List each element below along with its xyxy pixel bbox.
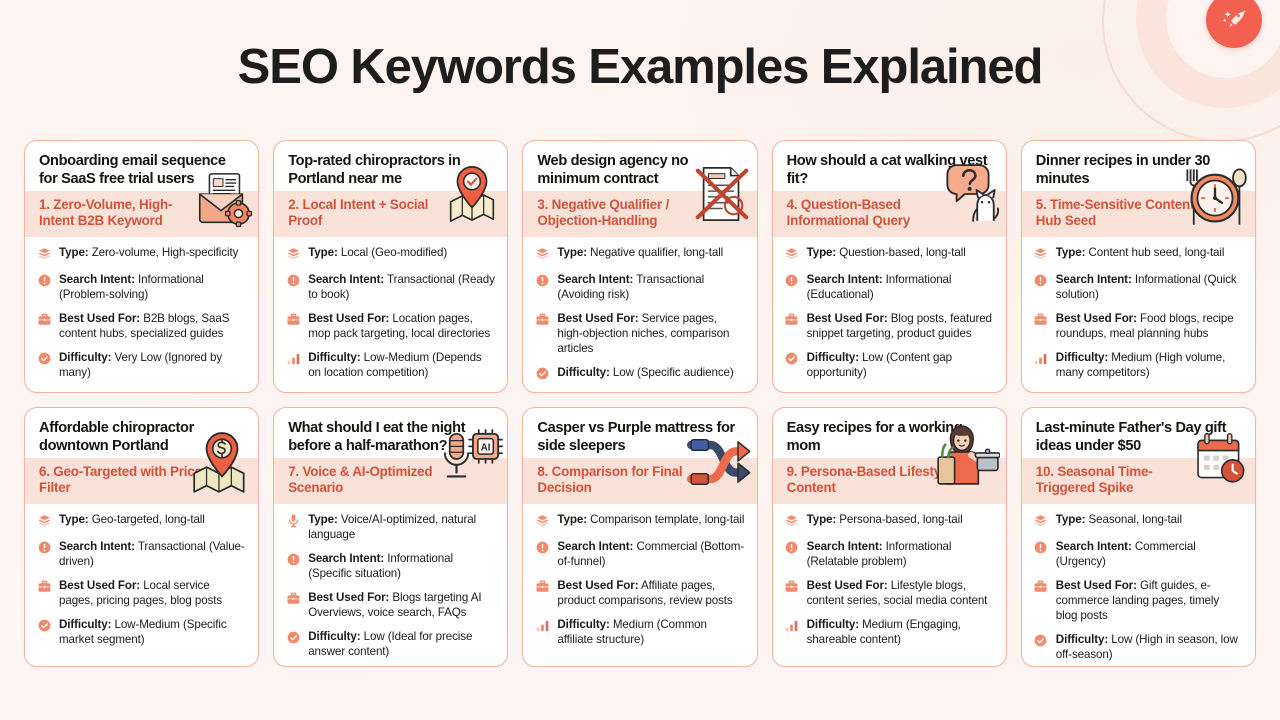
- detail-row-difficulty: Difficulty: Low (High in season, low off…: [1033, 632, 1243, 662]
- keyword-card[interactable]: Last-minute Father's Day gift ideas unde…: [1021, 407, 1256, 667]
- detail-text-difficulty: Difficulty: Medium (High volume, many co…: [1056, 350, 1243, 380]
- detail-text-difficulty: Difficulty: Low (Ideal for precise answe…: [308, 629, 495, 659]
- check-circle-icon: [534, 366, 550, 383]
- briefcase-icon: [1033, 579, 1049, 596]
- detail-label-type: Type:: [807, 513, 837, 526]
- keyword-type-label: 2. Local Intent + Social Proof: [288, 197, 456, 229]
- detail-text-search-intent: Search Intent: Commercial (Urgency): [1056, 539, 1243, 569]
- keyword-type-band: 1. Zero-Volume, High-Intent B2B Keyword: [25, 191, 258, 237]
- alert-circle-icon: [534, 273, 550, 290]
- keyword-title: Affordable chiropractor downtown Portlan…: [39, 420, 244, 456]
- detail-label-difficulty: Difficulty:: [557, 618, 609, 631]
- briefcase-icon: [285, 312, 301, 329]
- briefcase-icon: [784, 579, 800, 596]
- rocket-sparkle-icon: [1219, 5, 1249, 35]
- detail-label-type: Type:: [1056, 513, 1086, 526]
- detail-row-difficulty: Difficulty: Medium (Common affiliate str…: [534, 617, 744, 647]
- detail-label-difficulty: Difficulty:: [557, 366, 609, 379]
- detail-text-type: Type: Voice/AI-optimized, natural langua…: [308, 512, 495, 542]
- detail-label-difficulty: Difficulty:: [1056, 351, 1108, 364]
- keyword-type-label: 4. Question-Based Informational Query: [787, 197, 955, 229]
- detail-row-best-used-for: Best Used For: Gift guides, e-commerce l…: [1033, 578, 1243, 623]
- card-details: Type: Comparison template, long-tail Sea…: [523, 504, 756, 666]
- detail-row-best-used-for: Best Used For: Local service pages, pric…: [36, 578, 246, 608]
- detail-label-search-intent: Search Intent:: [557, 273, 633, 286]
- alert-circle-icon: [36, 540, 52, 557]
- check-circle-icon: [784, 351, 800, 368]
- detail-row-search-intent: Search Intent: Informational (Problem-so…: [36, 272, 246, 302]
- detail-label-best-used-for: Best Used For:: [1056, 312, 1137, 325]
- keyword-title: Last-minute Father's Day gift ideas unde…: [1036, 420, 1241, 456]
- detail-text-best-used-for: Best Used For: Local service pages, pric…: [59, 578, 246, 608]
- keyword-title: Onboarding email sequence for SaaS free …: [39, 153, 244, 189]
- detail-row-best-used-for: Best Used For: Blogs targeting AI Overvi…: [285, 590, 495, 620]
- detail-text-search-intent: Search Intent: Transactional (Avoiding r…: [557, 272, 744, 302]
- alert-circle-icon: [1033, 273, 1049, 290]
- card-header: Easy recipes for a working mom: [773, 408, 1006, 458]
- detail-label-search-intent: Search Intent:: [59, 540, 135, 553]
- detail-label-best-used-for: Best Used For:: [557, 312, 638, 325]
- detail-row-search-intent: Search Intent: Commercial (Bottom-of-fun…: [534, 539, 744, 569]
- keyword-type-band: 7. Voice & AI-Optimized Scenario: [274, 458, 507, 504]
- card-header: Casper vs Purple mattress for side sleep…: [523, 408, 756, 458]
- detail-label-type: Type:: [557, 513, 587, 526]
- detail-row-type: Type: Persona-based, long-tail: [784, 512, 994, 530]
- card-header: Last-minute Father's Day gift ideas unde…: [1022, 408, 1255, 458]
- detail-label-type: Type:: [1056, 246, 1086, 259]
- card-header: Dinner recipes in under 30 minutes: [1022, 141, 1255, 191]
- bar-chart-icon: [534, 618, 550, 635]
- detail-text-search-intent: Search Intent: Informational (Quick solu…: [1056, 272, 1243, 302]
- detail-row-type: Type: Comparison template, long-tail: [534, 512, 744, 530]
- card-details: Type: Content hub seed, long-tail Search…: [1022, 237, 1255, 392]
- detail-row-type: Type: Voice/AI-optimized, natural langua…: [285, 512, 495, 542]
- detail-value-type: Seasonal, long-tail: [1088, 513, 1182, 526]
- detail-label-type: Type:: [807, 246, 837, 259]
- detail-row-best-used-for: Best Used For: Service pages, high-objec…: [534, 311, 744, 356]
- detail-text-search-intent: Search Intent: Commercial (Bottom-of-fun…: [557, 539, 744, 569]
- detail-text-best-used-for: Best Used For: Blogs targeting AI Overvi…: [308, 590, 495, 620]
- keyword-title: Dinner recipes in under 30 minutes: [1036, 153, 1241, 189]
- detail-text-best-used-for: Best Used For: Affiliate pages, product …: [557, 578, 744, 608]
- detail-row-search-intent: Search Intent: Transactional (Value-driv…: [36, 539, 246, 569]
- detail-row-difficulty: Difficulty: Low (Specific audience): [534, 365, 744, 383]
- card-header: How should a cat walking vest fit?: [773, 141, 1006, 191]
- detail-label-best-used-for: Best Used For:: [807, 579, 888, 592]
- card-header: Web design agency no minimum contract: [523, 141, 756, 191]
- keyword-type-label: 1. Zero-Volume, High-Intent B2B Keyword: [39, 197, 207, 229]
- detail-text-type: Type: Content hub seed, long-tail: [1056, 245, 1225, 260]
- detail-row-best-used-for: Best Used For: Location pages, mop pack …: [285, 311, 495, 341]
- alert-circle-icon: [285, 273, 301, 290]
- detail-text-search-intent: Search Intent: Transactional (Ready to b…: [308, 272, 495, 302]
- keyword-type-band: 3. Negative Qualifier / Objection-Handli…: [523, 191, 756, 237]
- briefcase-icon: [534, 579, 550, 596]
- detail-value-type: Geo-targeted, long-tall: [92, 513, 205, 526]
- detail-label-type: Type:: [59, 513, 89, 526]
- detail-label-best-used-for: Best Used For:: [59, 312, 140, 325]
- detail-text-search-intent: Search Intent: Informational (Educationa…: [807, 272, 994, 302]
- check-circle-icon: [36, 618, 52, 635]
- keyword-card[interactable]: Casper vs Purple mattress for side sleep…: [522, 407, 757, 667]
- detail-row-best-used-for: Best Used For: Lifestyle blogs, content …: [784, 578, 994, 608]
- briefcase-icon: [534, 312, 550, 329]
- detail-row-search-intent: Search Intent: Transactional (Avoiding r…: [534, 272, 744, 302]
- keyword-type-label: 9. Persona-Based Lifestyie Content: [787, 464, 955, 496]
- card-header: Affordable chiropractor downtown Portlan…: [25, 408, 258, 458]
- briefcase-icon: [784, 312, 800, 329]
- card-details: Type: Zero-volume, High-specificity Sear…: [25, 237, 258, 392]
- card-details: Type: Persona-based, long-tail Search In…: [773, 504, 1006, 666]
- detail-label-search-intent: Search Intent:: [308, 273, 384, 286]
- keyword-type-label: 3. Negative Qualifier / Objection-Handli…: [537, 197, 705, 229]
- detail-row-type: Type: Seasonal, long-tail: [1033, 512, 1243, 530]
- detail-row-search-intent: Search Intent: Informational (Relatable …: [784, 539, 994, 569]
- detail-label-search-intent: Search Intent:: [807, 540, 883, 553]
- layers-icon: [36, 513, 52, 530]
- detail-row-difficulty: Difficulty: Very Low (Ignored by many): [36, 350, 246, 380]
- card-header: What should I eat the night before a hal…: [274, 408, 507, 458]
- detail-text-type: Type: Negative qualifier, long-tall: [557, 245, 723, 260]
- keyword-type-band: 10. Seasonal Time-Triggered Spike: [1022, 458, 1255, 504]
- keyword-title: How should a cat walking vest fit?: [787, 153, 992, 189]
- card-header: Top-rated chiropractors in Portland near…: [274, 141, 507, 191]
- detail-row-difficulty: Difficulty: Low (Content gap opportunity…: [784, 350, 994, 380]
- detail-text-best-used-for: Best Used For: Gift guides, e-commerce l…: [1056, 578, 1243, 623]
- briefcase-icon: [36, 579, 52, 596]
- layers-icon: [285, 246, 301, 263]
- keyword-card[interactable]: Easy recipes for a working mom 9. Person…: [772, 407, 1007, 667]
- detail-text-type: Type: Geo-targeted, long-tall: [59, 512, 205, 527]
- detail-text-best-used-for: Best Used For: Food blogs, recipe roundu…: [1056, 311, 1243, 341]
- detail-text-type: Type: Local (Geo-modified): [308, 245, 447, 260]
- bar-chart-icon: [784, 618, 800, 635]
- card-details: Type: Voice/AI-optimized, natural langua…: [274, 504, 507, 667]
- keyword-type-label: 10. Seasonal Time-Triggered Spike: [1036, 464, 1204, 496]
- detail-label-search-intent: Search Intent:: [59, 273, 135, 286]
- check-circle-icon: [285, 630, 301, 647]
- detail-text-search-intent: Search Intent: Informational (Problem-so…: [59, 272, 246, 302]
- detail-label-difficulty: Difficulty:: [59, 351, 111, 364]
- page-title: SEO Keywords Examples Explained: [0, 40, 1280, 95]
- alert-circle-icon: [285, 552, 301, 569]
- keyword-type-band: 6. Geo-Targeted with Price Filter: [25, 458, 258, 504]
- detail-text-search-intent: Search Intent: Transactional (Value-driv…: [59, 539, 246, 569]
- detail-label-best-used-for: Best Used For:: [557, 579, 638, 592]
- detail-label-difficulty: Difficulty:: [807, 351, 859, 364]
- keyword-type-label: 6. Geo-Targeted with Price Filter: [39, 464, 207, 496]
- detail-row-search-intent: Search Intent: Transactional (Ready to b…: [285, 272, 495, 302]
- detail-text-difficulty: Difficulty: Low-Medium (Depends on locat…: [308, 350, 495, 380]
- card-header: Onboarding email sequence for SaaS free …: [25, 141, 258, 191]
- detail-text-difficulty: Difficulty: Medium (Common affiliate str…: [557, 617, 744, 647]
- detail-row-type: Type: Zero-volume, High-specificity: [36, 245, 246, 263]
- detail-text-difficulty: Difficulty: Medium (Engaging, shareable …: [807, 617, 994, 647]
- briefcase-icon: [36, 312, 52, 329]
- detail-label-difficulty: Difficulty:: [807, 618, 859, 631]
- bar-chart-icon: [1033, 351, 1049, 368]
- detail-value-type: Comparison template, long-tail: [590, 513, 744, 526]
- detail-row-difficulty: Difficulty: Low-Medium (Specific market …: [36, 617, 246, 647]
- detail-label-difficulty: Difficulty:: [59, 618, 111, 631]
- detail-row-difficulty: Difficulty: Medium (Engaging, shareable …: [784, 617, 994, 647]
- keyword-card[interactable]: AI What should I eat the night before a …: [273, 407, 508, 667]
- detail-row-type: Type: Local (Geo-modified): [285, 245, 495, 263]
- keyword-card[interactable]: Onboarding email sequence for SaaS free …: [24, 140, 259, 393]
- layers-icon: [1033, 246, 1049, 263]
- detail-text-type: Type: Comparison template, long-tail: [557, 512, 744, 527]
- detail-text-difficulty: Difficulty: Low (Specific audience): [557, 365, 733, 380]
- detail-label-best-used-for: Best Used For:: [308, 312, 389, 325]
- keyword-card[interactable]: How should a cat walking vest fit? 4. Qu…: [772, 140, 1007, 393]
- card-details: Type: Seasonal, long-tail Search Intent:…: [1022, 504, 1255, 667]
- detail-text-best-used-for: Best Used For: B2B blogs, SaaS content h…: [59, 311, 246, 341]
- detail-text-search-intent: Search Intent: Informational (Relatable …: [807, 539, 994, 569]
- check-circle-icon: [1033, 633, 1049, 650]
- keyword-title: Casper vs Purple mattress for side sleep…: [537, 420, 742, 456]
- alert-circle-icon: [534, 540, 550, 557]
- detail-row-search-intent: Search Intent: Informational (Quick solu…: [1033, 272, 1243, 302]
- detail-text-difficulty: Difficulty: Low-Medium (Specific market …: [59, 617, 246, 647]
- detail-label-difficulty: Difficulty:: [308, 630, 360, 643]
- detail-label-search-intent: Search Intent:: [1056, 540, 1132, 553]
- detail-value-type: Zero-volume, High-specificity: [92, 246, 239, 259]
- layers-icon: [534, 513, 550, 530]
- briefcase-icon: [1033, 312, 1049, 329]
- detail-text-best-used-for: Best Used For: Location pages, mop pack …: [308, 311, 495, 341]
- detail-text-difficulty: Difficulty: Very Low (Ignored by many): [59, 350, 246, 380]
- detail-value-type: Question-based, long-tall: [839, 246, 965, 259]
- keyword-title: What should I eat the night before a hal…: [288, 420, 493, 456]
- detail-text-type: Type: Zero-volume, High-specificity: [59, 245, 238, 260]
- detail-label-best-used-for: Best Used For:: [807, 312, 888, 325]
- keyword-title: Top-rated chiropractors in Portland near…: [288, 153, 493, 189]
- detail-label-type: Type:: [308, 513, 338, 526]
- detail-value-type: Negative qualifier, long-tall: [590, 246, 723, 259]
- detail-label-type: Type:: [59, 246, 89, 259]
- detail-row-best-used-for: Best Used For: Affiliate pages, product …: [534, 578, 744, 608]
- detail-row-best-used-for: Best Used For: Blog posts, featured snip…: [784, 311, 994, 341]
- keyword-card[interactable]: Dinner recipes in under 30 minutes 5. Ti…: [1021, 140, 1256, 393]
- detail-text-search-intent: Search Intent: Informational (Specific s…: [308, 551, 495, 581]
- detail-value-type: Content hub seed, long-tail: [1088, 246, 1224, 259]
- detail-text-best-used-for: Best Used For: Service pages, high-objec…: [557, 311, 744, 356]
- keyword-type-label: 5. Time-Sensitive Content Hub Seed: [1036, 197, 1204, 229]
- detail-value-difficulty: Low (Specific audience): [613, 366, 734, 379]
- card-details: Type: Negative qualifier, long-tall Sear…: [523, 237, 756, 392]
- card-details: Type: Geo-targeted, long-tall Search Int…: [25, 504, 258, 666]
- keyword-card-grid: Onboarding email sequence for SaaS free …: [24, 140, 1256, 667]
- alert-circle-icon: [1033, 540, 1049, 557]
- alert-circle-icon: [36, 273, 52, 290]
- keyword-type-band: 5. Time-Sensitive Content Hub Seed: [1022, 191, 1255, 237]
- detail-text-type: Type: Seasonal, long-tail: [1056, 512, 1182, 527]
- layers-icon: [36, 246, 52, 263]
- detail-label-best-used-for: Best Used For:: [59, 579, 140, 592]
- layers-icon: [784, 513, 800, 530]
- keyword-card[interactable]: Affordable chiropractor downtown Portlan…: [24, 407, 259, 667]
- detail-label-search-intent: Search Intent:: [557, 540, 633, 553]
- detail-row-difficulty: Difficulty: Medium (High volume, many co…: [1033, 350, 1243, 380]
- alert-circle-icon: [784, 273, 800, 290]
- keyword-card[interactable]: Web design agency no minimum contract 3.…: [522, 140, 757, 393]
- detail-row-best-used-for: Best Used For: Food blogs, recipe roundu…: [1033, 311, 1243, 341]
- detail-row-type: Type: Negative qualifier, long-tall: [534, 245, 744, 263]
- detail-value-type: Persona-based, long-tail: [839, 513, 962, 526]
- keyword-title: Easy recipes for a working mom: [787, 420, 992, 456]
- detail-row-type: Type: Question-based, long-tall: [784, 245, 994, 263]
- detail-label-search-intent: Search Intent:: [1056, 273, 1132, 286]
- detail-label-difficulty: Difficulty:: [308, 351, 360, 364]
- keyword-type-label: 7. Voice & AI-Optimized Scenario: [288, 464, 456, 496]
- detail-label-type: Type:: [557, 246, 587, 259]
- detail-text-best-used-for: Best Used For: Blog posts, featured snip…: [807, 311, 994, 341]
- detail-text-best-used-for: Best Used For: Lifestyle blogs, content …: [807, 578, 994, 608]
- keyword-type-band: 8. Comparison for Final Decision: [523, 458, 756, 504]
- detail-row-type: Type: Content hub seed, long-tail: [1033, 245, 1243, 263]
- keyword-type-band: 9. Persona-Based Lifestyie Content: [773, 458, 1006, 504]
- detail-text-type: Type: Persona-based, long-tail: [807, 512, 963, 527]
- keyword-type-band: 2. Local Intent + Social Proof: [274, 191, 507, 237]
- alert-circle-icon: [784, 540, 800, 557]
- keyword-type-band: 4. Question-Based Informational Query: [773, 191, 1006, 237]
- detail-label-difficulty: Difficulty:: [1056, 633, 1108, 646]
- keyword-card[interactable]: Top-rated chiropractors in Portland near…: [273, 140, 508, 393]
- detail-text-difficulty: Difficulty: Low (Content gap opportunity…: [807, 350, 994, 380]
- detail-row-search-intent: Search Intent: Commercial (Urgency): [1033, 539, 1243, 569]
- detail-label-search-intent: Search Intent:: [807, 273, 883, 286]
- detail-row-search-intent: Search Intent: Informational (Educationa…: [784, 272, 994, 302]
- keyword-title: Web design agency no minimum contract: [537, 153, 742, 189]
- detail-row-difficulty: Difficulty: Low-Medium (Depends on locat…: [285, 350, 495, 380]
- detail-text-difficulty: Difficulty: Low (High in season, low off…: [1056, 632, 1243, 662]
- detail-row-type: Type: Geo-targeted, long-tall: [36, 512, 246, 530]
- bar-chart-icon: [285, 351, 301, 368]
- check-circle-icon: [36, 351, 52, 368]
- detail-label-best-used-for: Best Used For:: [1056, 579, 1137, 592]
- detail-label-best-used-for: Best Used For:: [308, 591, 389, 604]
- detail-label-type: Type:: [308, 246, 338, 259]
- detail-row-search-intent: Search Intent: Informational (Specific s…: [285, 551, 495, 581]
- card-details: Type: Local (Geo-modified) Search Intent…: [274, 237, 507, 392]
- detail-label-search-intent: Search Intent:: [308, 552, 384, 565]
- card-details: Type: Question-based, long-tall Search I…: [773, 237, 1006, 392]
- detail-value-type: Local (Geo-modified): [341, 246, 447, 259]
- detail-row-best-used-for: Best Used For: B2B blogs, SaaS content h…: [36, 311, 246, 341]
- layers-icon: [534, 246, 550, 263]
- layers-icon: [784, 246, 800, 263]
- layers-icon: [1033, 513, 1049, 530]
- detail-text-type: Type: Question-based, long-tall: [807, 245, 966, 260]
- detail-row-difficulty: Difficulty: Low (Ideal for precise answe…: [285, 629, 495, 659]
- microphone-icon: [285, 513, 301, 530]
- keyword-type-label: 8. Comparison for Final Decision: [537, 464, 705, 496]
- briefcase-icon: [285, 591, 301, 608]
